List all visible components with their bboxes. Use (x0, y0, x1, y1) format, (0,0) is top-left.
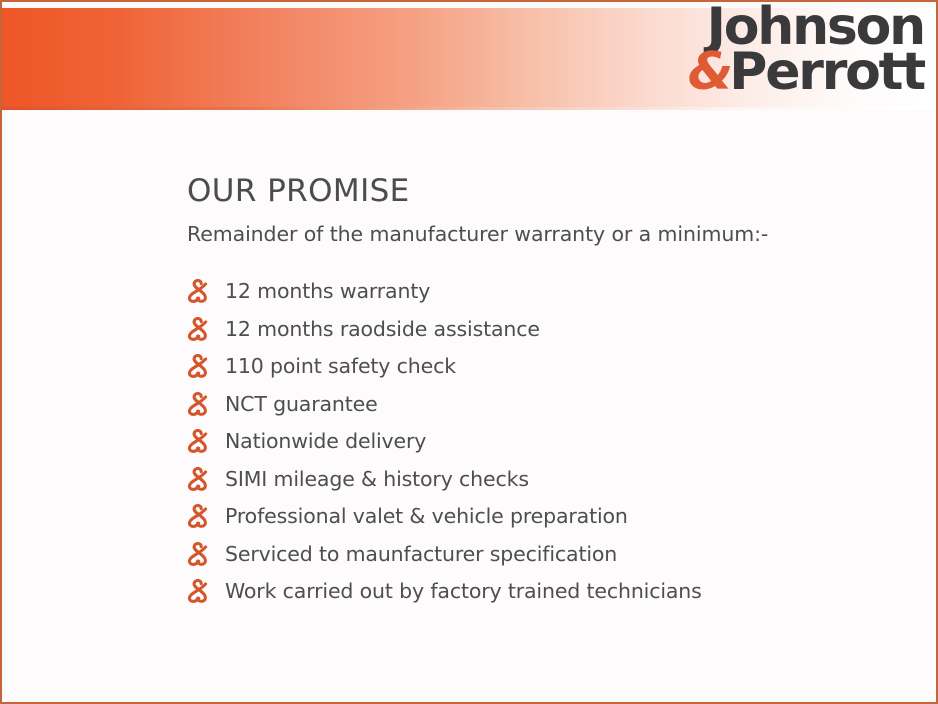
promise-item-label: Professional valet & vehicle preparation (225, 504, 628, 528)
ampersand-bullet-icon (187, 542, 225, 566)
header-bottom-rule (2, 107, 936, 110)
page-title: OUR PROMISE (187, 174, 936, 208)
promise-item-label: 110 point safety check (225, 354, 456, 378)
promise-list-item: NCT guarantee (187, 385, 936, 423)
ampersand-bullet-icon (187, 279, 225, 303)
promise-item-label: 12 months warranty (225, 279, 430, 303)
promise-item-label: Nationwide delivery (225, 429, 426, 453)
promise-item-label: NCT guarantee (225, 392, 378, 416)
promise-list-item: Nationwide delivery (187, 423, 936, 461)
johnson-perrott-logo: Johnson &Perrott (688, 6, 924, 93)
promise-item-label: Serviced to maunfacturer specification (225, 542, 617, 566)
promise-list-item: Serviced to maunfacturer specification (187, 535, 936, 573)
ampersand-bullet-icon (187, 317, 225, 341)
promise-content: OUR PROMISE Remainder of the manufacture… (2, 112, 936, 610)
page-header: Johnson &Perrott (2, 2, 936, 112)
promise-list: 12 months warranty 12 months raodside as… (187, 273, 936, 611)
promise-item-label: Work carried out by factory trained tech… (225, 579, 702, 603)
ampersand-bullet-icon (187, 579, 225, 603)
ampersand-bullet-icon (187, 354, 225, 378)
logo-ampersand-icon: & (688, 42, 729, 102)
promise-list-item: Professional valet & vehicle preparation (187, 498, 936, 536)
promise-item-label: 12 months raodside assistance (225, 317, 540, 341)
ampersand-bullet-icon (187, 429, 225, 453)
promise-list-item: 12 months warranty (187, 273, 936, 311)
promise-list-item: 110 point safety check (187, 348, 936, 386)
page-subtitle: Remainder of the manufacturer warranty o… (187, 222, 936, 247)
ampersand-bullet-icon (187, 467, 225, 491)
promise-list-item: SIMI mileage & history checks (187, 460, 936, 498)
promise-page: Johnson &Perrott OUR PROMISE Remainder o… (0, 0, 938, 704)
promise-list-item: Work carried out by factory trained tech… (187, 573, 936, 611)
ampersand-bullet-icon (187, 392, 225, 416)
logo-line-perrott: &Perrott (688, 51, 924, 94)
promise-item-label: SIMI mileage & history checks (225, 467, 529, 491)
logo-perrott-text: Perrott (729, 42, 924, 102)
ampersand-bullet-icon (187, 504, 225, 528)
promise-list-item: 12 months raodside assistance (187, 310, 936, 348)
